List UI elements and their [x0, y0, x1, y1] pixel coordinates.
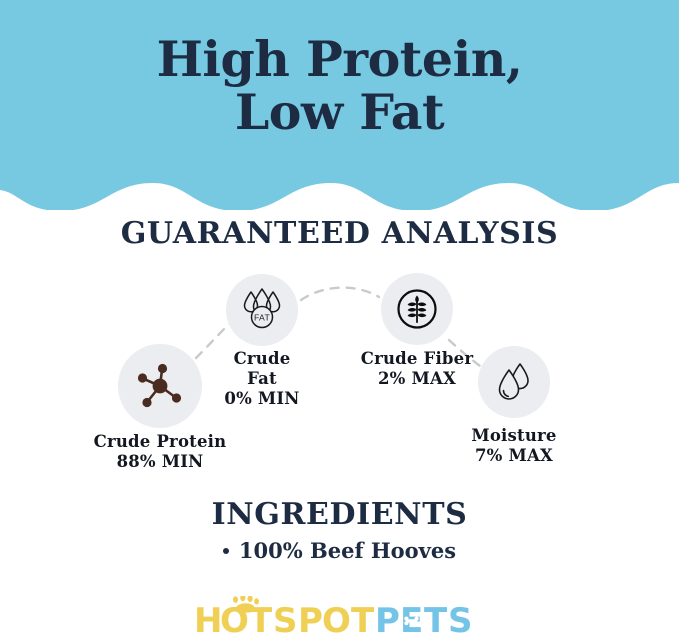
- fat-label: Crude Fat 0% MIN: [192, 349, 332, 409]
- moisture-value: 7% MAX: [444, 446, 584, 466]
- ingredients-heading: INGREDIENTS: [0, 497, 679, 532]
- connector-fat-to-fiber: [301, 288, 379, 300]
- banner-title-line-1: High Protein,: [157, 30, 523, 88]
- guaranteed-analysis-heading: GUARANTEED ANALYSIS: [0, 216, 679, 251]
- fat-name-line-1: Crude: [234, 349, 291, 368]
- svg-text:P: P: [298, 601, 323, 636]
- list-item: 100% Beef Hooves: [0, 538, 679, 564]
- banner-title-line-2: Low Fat: [0, 86, 679, 139]
- fiber-value: 2% MAX: [337, 369, 497, 389]
- brand-logo: H O T S P O T P E T S: [0, 596, 679, 641]
- svg-text:S: S: [273, 601, 298, 636]
- moisture-label: Moisture 7% MAX: [444, 426, 584, 466]
- svg-text:S: S: [448, 601, 473, 636]
- fat-droplets-icon: FAT: [238, 286, 286, 334]
- water-droplets-icon: [491, 359, 537, 405]
- ingredient-text: 100% Beef Hooves: [239, 538, 456, 563]
- fiber-icon-circle: [381, 273, 453, 345]
- wheat-grain-icon: [394, 286, 440, 332]
- svg-text:P: P: [375, 601, 400, 636]
- svg-text:H: H: [194, 601, 223, 636]
- protein-molecule-icon: [131, 357, 189, 415]
- logo-text-pets: P E T S: [375, 601, 473, 636]
- svg-text:O: O: [220, 601, 249, 636]
- svg-text:T: T: [351, 601, 375, 636]
- page-title: High Protein, Low Fat: [0, 33, 679, 139]
- moisture-name: Moisture: [471, 426, 556, 445]
- fiber-name: Crude Fiber: [361, 349, 474, 368]
- header-banner: High Protein, Low Fat: [0, 0, 679, 210]
- nutrient-diagram: Crude Protein 88% MIN FAT Crude Fat 0% M…: [0, 262, 679, 487]
- fat-value: 0% MIN: [192, 389, 332, 409]
- bullet-icon: [223, 548, 229, 554]
- hotspotpets-logo: H O T S P O T P E T S: [194, 596, 486, 636]
- ingredients-list: 100% Beef Hooves: [0, 538, 679, 564]
- protein-name: Crude Protein: [94, 432, 227, 451]
- logo-text-hotspot: H O T S P O T: [194, 601, 375, 636]
- protein-icon-circle: [118, 344, 202, 428]
- fat-icon-text: FAT: [254, 313, 270, 323]
- fiber-label: Crude Fiber 2% MAX: [337, 349, 497, 389]
- fat-icon-circle: FAT: [226, 274, 298, 346]
- svg-text:T: T: [424, 601, 448, 636]
- fat-name-line-2: Fat: [192, 369, 332, 389]
- protein-label: Crude Protein 88% MIN: [60, 432, 260, 472]
- svg-text:E: E: [400, 601, 424, 636]
- svg-text:T: T: [249, 601, 273, 636]
- moisture-icon-circle: [478, 346, 550, 418]
- protein-value: 88% MIN: [60, 452, 260, 472]
